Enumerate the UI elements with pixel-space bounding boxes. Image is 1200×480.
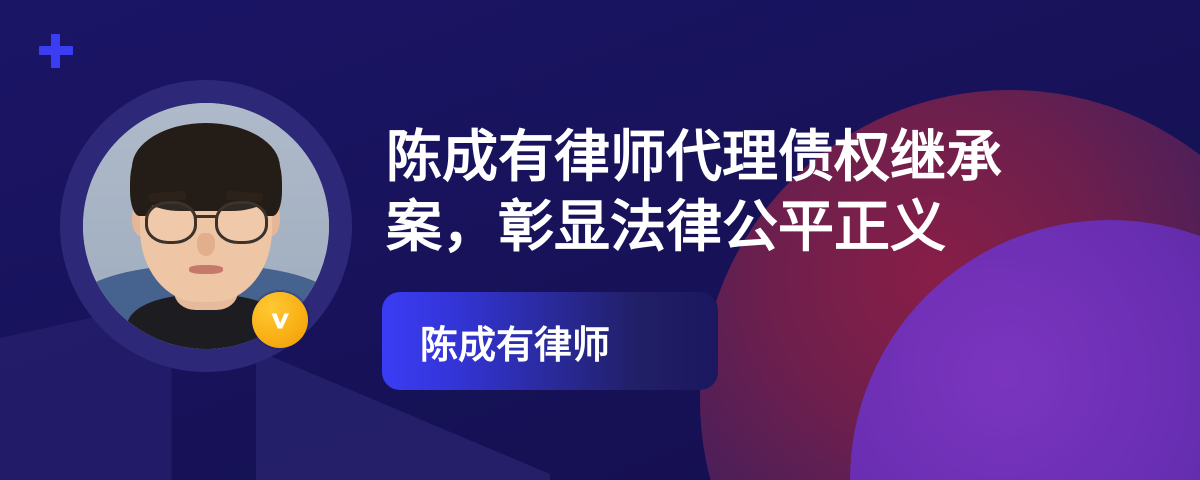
plus-icon <box>39 34 73 68</box>
lawyer-name-button[interactable]: 陈成有律师 <box>382 292 718 390</box>
verified-badge-icon <box>252 292 308 348</box>
avatar[interactable] <box>60 80 352 372</box>
banner-card: 陈成有律师代理债权继承案，彰显法律公平正义 陈成有律师 <box>0 0 1200 480</box>
page-title: 陈成有律师代理债权继承案，彰显法律公平正义 <box>386 122 1086 262</box>
